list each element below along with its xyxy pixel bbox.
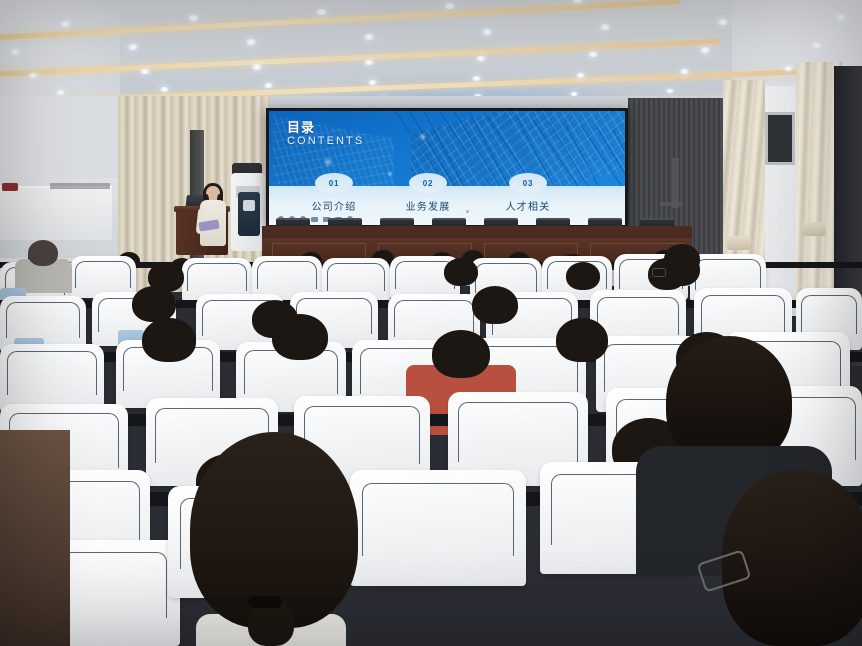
downlight-31: [784, 66, 793, 71]
downlight-17: [140, 69, 150, 74]
downlight-15: [836, 14, 846, 20]
wall-marking-horizontal: [660, 202, 682, 206]
downlight-11: [364, 34, 374, 40]
toc-oval-1: 01: [315, 173, 353, 193]
downlight-18: [252, 64, 262, 69]
downlight-13: [600, 24, 610, 30]
downlight-24: [56, 90, 65, 95]
downlight-27: [368, 80, 377, 85]
ceiling-left-drop: [0, 0, 120, 96]
toc-number-2: 02: [423, 179, 434, 188]
downlight-14: [718, 19, 728, 25]
downlight-16: [28, 73, 38, 78]
attendee-head-22: [272, 314, 328, 360]
audience-chair-36[interactable]: [350, 470, 526, 586]
glasses-icon: [652, 268, 666, 277]
downlight-12: [482, 29, 492, 35]
attendee-head-12: [444, 258, 478, 286]
toc-number-1: 01: [329, 179, 340, 188]
toc-number-3: 03: [523, 179, 534, 188]
attendee-head-15: [28, 240, 58, 266]
attendee-head-23: [432, 330, 490, 378]
slide-title-en: CONTENTS: [287, 135, 364, 147]
attendee-head-20: [660, 252, 700, 286]
red-object-on-cabinet: [2, 183, 18, 191]
downlight-1: [60, 21, 71, 27]
downlight-25: [160, 87, 169, 92]
eraser-icon[interactable]: [311, 217, 318, 222]
toc-item-2[interactable]: 02 业务发展: [391, 173, 465, 213]
slide-glow-1: [323, 157, 333, 167]
conference-room-scene: 目录 CONTENTS 01 公司介绍 02 业务发展 03 人才相关: [0, 0, 862, 646]
downlight-29: [576, 73, 585, 78]
downlight-8: [10, 49, 20, 55]
slide-glow-2: [419, 133, 427, 141]
downlight-20: [476, 56, 486, 61]
wall-frame-icon: [765, 112, 795, 165]
downlight-2: [188, 15, 199, 21]
toc-item-1[interactable]: 01 公司介绍: [297, 173, 371, 213]
hair-tie: [248, 596, 282, 608]
left-cabinet: [0, 186, 112, 240]
downlight-10: [246, 39, 256, 45]
toc-oval-2: 02: [409, 173, 447, 193]
downlight-3: [316, 9, 327, 15]
attendee-head-18: [472, 286, 518, 324]
attendee-head-13: [566, 262, 600, 290]
cabinet-dark-object: [50, 183, 110, 189]
downlight-4: [444, 3, 455, 9]
attendee-head-16: [132, 286, 176, 322]
downlight-21: [588, 52, 598, 57]
water-cooler: [238, 192, 260, 236]
toc-separator-dot: [466, 210, 469, 213]
projection-screen[interactable]: 目录 CONTENTS 01 公司介绍 02 业务发展 03 人才相关: [269, 111, 625, 225]
attendee-head-21: [142, 318, 196, 362]
toc-item-3[interactable]: 03 人才相关: [491, 173, 565, 213]
toc-oval-3: 03: [509, 173, 547, 193]
toc-label-3: 人才相关: [491, 198, 565, 213]
downlight-9: [128, 44, 138, 50]
curtain-tieback-1: [727, 236, 751, 250]
audience-chair-20[interactable]: [0, 344, 104, 412]
attendee-head-24: [556, 318, 608, 362]
toc-label-2: 业务发展: [391, 198, 465, 213]
toc-label-1: 公司介绍: [297, 198, 371, 213]
slide-title-cn: 目录: [287, 121, 315, 135]
downlight-19: [364, 60, 374, 65]
floor-left: [0, 430, 70, 646]
water-cooler-button[interactable]: [243, 200, 255, 211]
downlight-22: [700, 47, 710, 52]
wall-marking-vertical: [672, 158, 679, 208]
curtain-tieback-2: [802, 222, 826, 236]
